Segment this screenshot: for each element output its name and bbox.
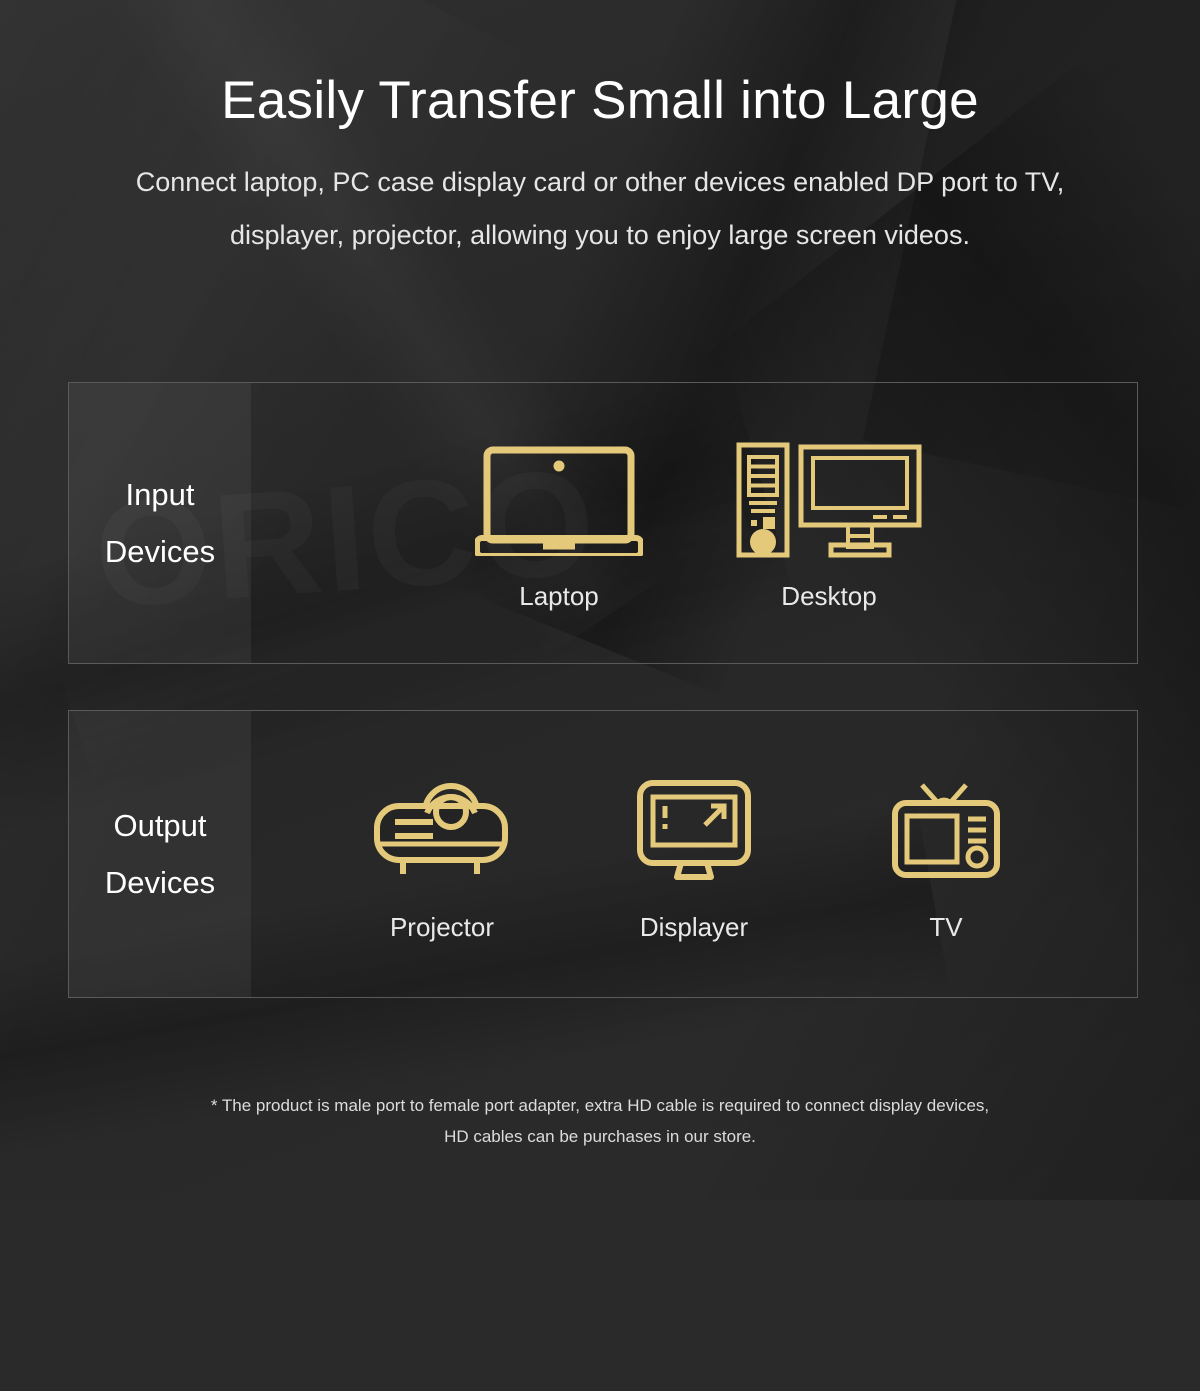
footnote: * The product is male port to female por… (0, 1090, 1200, 1153)
promo-page: Easily Transfer Small into Large Connect… (0, 0, 1200, 1200)
subtitle-line-1: Connect laptop, PC case display card or … (0, 156, 1200, 209)
displayer-label: Displayer (640, 912, 748, 943)
page-title: Easily Transfer Small into Large (0, 0, 1200, 130)
tv-icon (890, 779, 1002, 883)
desktop-label: Desktop (781, 581, 876, 612)
footnote-line-2: HD cables can be purchases in our store. (120, 1121, 1080, 1152)
device-laptop: Laptop (424, 435, 694, 612)
output-label-line-2: Devices (105, 854, 215, 911)
device-tv: TV (820, 766, 1072, 943)
desktop-icon-wrap (735, 435, 923, 565)
tv-icon-wrap (890, 766, 1002, 896)
laptop-label: Laptop (519, 581, 599, 612)
displayer-icon (635, 779, 753, 883)
subtitle-line-2: displayer, projector, allowing you to en… (0, 209, 1200, 262)
input-label-line-2: Devices (105, 523, 215, 580)
input-devices-panel: Input Devices Laptop (68, 382, 1138, 664)
laptop-icon (475, 444, 643, 556)
output-devices-list: Projector (251, 711, 1137, 997)
output-label-line-1: Output (113, 797, 206, 854)
projector-icon (371, 780, 513, 882)
projector-icon-wrap (371, 766, 513, 896)
input-devices-label: Input Devices (69, 383, 251, 663)
output-devices-label: Output Devices (69, 711, 251, 997)
projector-label: Projector (390, 912, 494, 943)
input-label-line-1: Input (126, 466, 195, 523)
device-desktop: Desktop (694, 435, 964, 612)
output-devices-panel: Output Devices (68, 710, 1138, 998)
desktop-icon (735, 441, 923, 559)
device-projector: Projector (316, 766, 568, 943)
displayer-icon-wrap (635, 766, 753, 896)
tv-label: TV (929, 912, 962, 943)
input-devices-list: Laptop (251, 383, 1137, 663)
device-displayer: Displayer (568, 766, 820, 943)
laptop-icon-wrap (475, 435, 643, 565)
footnote-line-1: * The product is male port to female por… (120, 1090, 1080, 1121)
page-subtitle: Connect laptop, PC case display card or … (0, 130, 1200, 261)
